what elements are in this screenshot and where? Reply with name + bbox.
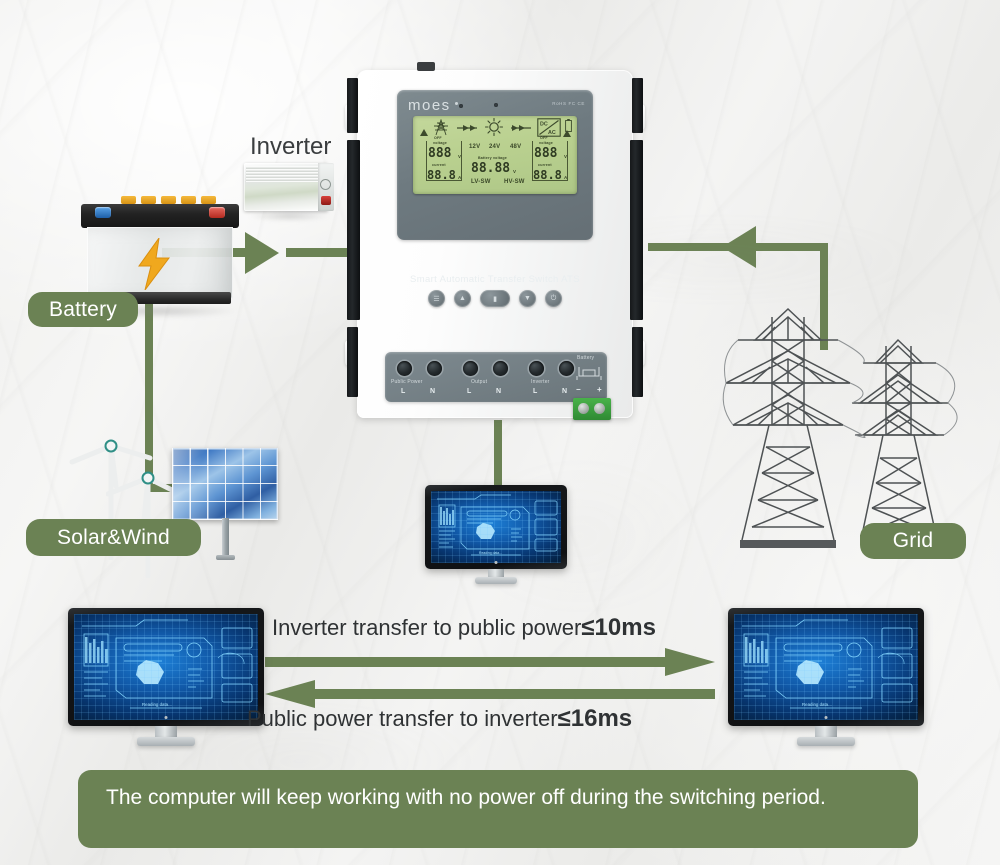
ats-device: moes RoHS FC CE xyxy=(345,62,645,432)
up-button[interactable]: ▲ xyxy=(454,290,471,307)
transfer-reverse-text: Public power transfer to inverter≤16ms xyxy=(247,705,632,733)
heatsink-fin xyxy=(347,140,360,320)
heatsink-fin xyxy=(347,78,358,133)
terminal-jack-output-n[interactable] xyxy=(493,361,508,376)
lcd-dc-ac-icon: DC AC xyxy=(537,118,561,137)
lcd-left-voltage-unit: V xyxy=(458,154,461,159)
status-led xyxy=(494,103,498,107)
label-grid: Grid xyxy=(860,523,966,559)
diagram-background: Battery Inverter xyxy=(0,0,1000,865)
lcd-pylon-icon xyxy=(433,119,449,136)
terminal-jack-output-l[interactable] xyxy=(463,361,478,376)
terminal-jack-inverter-l[interactable] xyxy=(529,361,544,376)
power-button[interactable]: ⏻ xyxy=(545,290,562,307)
caption-text: The computer will keep working with no p… xyxy=(106,786,826,809)
pin-label-l: L xyxy=(467,388,471,395)
arrow-grid-to-ats xyxy=(710,226,756,268)
transfer-forward-text: Inverter transfer to public power≤10ms xyxy=(272,614,656,642)
svg-text:AC: AC xyxy=(548,130,556,136)
lcd-warning-right-icon xyxy=(563,130,571,137)
enter-button[interactable]: ▮ xyxy=(480,290,510,307)
lcd-warning-left-icon xyxy=(420,129,428,136)
lcd-left-current-label: current xyxy=(432,163,446,167)
lcd-left-voltage-value: 888 xyxy=(428,146,451,161)
pin-label-l: L xyxy=(401,388,405,395)
lcd-left-off: OFF xyxy=(434,136,442,140)
label-solar-wind: Solar&Wind xyxy=(26,519,201,556)
terminal-battery-label: Battery xyxy=(577,355,594,361)
svg-text:DC: DC xyxy=(540,122,548,128)
lcd-left-current-value: 88.8 xyxy=(427,168,456,182)
transfer-forward-time: ≤10ms xyxy=(581,614,656,641)
lcd-bulb-icon xyxy=(485,118,503,136)
lcd-right-voltage-unit: V xyxy=(564,154,567,159)
monitor-screen: Reading data... xyxy=(431,491,561,563)
lcd-flow-right-icon xyxy=(509,124,533,132)
pin-label-l: L xyxy=(533,388,537,395)
caption-banner: The computer will keep working with no p… xyxy=(78,770,918,848)
lcd-right-voltage-label: voltage xyxy=(539,141,553,145)
lcd-sysvolt-48v: 48V xyxy=(510,144,521,150)
lcd-lv-sw: LV-SW xyxy=(471,179,491,185)
battery-positive-terminal xyxy=(95,207,111,218)
lcd-display: DC AC OFF OFF voltage xyxy=(413,116,577,194)
lcd-left-current-unit: A xyxy=(458,175,461,180)
inverter-socket xyxy=(321,196,331,205)
terminal-panel: Public Power Output Inverter L N L N L N… xyxy=(385,352,607,402)
terminal-group-label-public-power: Public Power xyxy=(391,379,423,385)
control-button-row: ☰ ▲ ▮ ▼ ⏻ xyxy=(397,290,593,307)
lcd-sysvolt-12v: 12V xyxy=(469,144,480,150)
hud-monitor-left: Reading data... xyxy=(68,608,264,748)
pin-label-n: N xyxy=(562,388,567,395)
pin-label-n: N xyxy=(496,388,501,395)
lcd-flow-left-icon xyxy=(455,124,479,132)
lcd-right-current-value: 88.8 xyxy=(533,168,562,182)
brand-logo: moes xyxy=(408,97,451,114)
arrow-forward-transfer xyxy=(265,648,715,678)
label-inverter: Inverter xyxy=(250,133,331,161)
lcd-right-off: OFF xyxy=(540,136,548,140)
lcd-right-current-unit: A xyxy=(564,175,567,180)
lcd-hv-sw: HV-SW xyxy=(504,179,525,185)
terminal-group-label-output: Output xyxy=(471,379,487,385)
lcd-battery-label: Battery voltage xyxy=(478,156,507,160)
terminal-jack-public-l[interactable] xyxy=(397,361,412,376)
hud-monitor-center: Reading data... xyxy=(425,485,567,585)
battery-pin-negative: − xyxy=(576,385,581,394)
monitor-screen: Reading data... xyxy=(734,614,918,720)
down-button[interactable]: ▼ xyxy=(519,290,536,307)
arrow-battery-to-inverter xyxy=(245,232,291,274)
lcd-battery-value: 88.88 xyxy=(471,161,510,176)
monitor-screen: Reading data... xyxy=(74,614,258,720)
inverter-illustration xyxy=(244,163,334,219)
transfer-reverse-time: ≤16ms xyxy=(558,705,633,732)
hud-monitor-right: Reading data... xyxy=(728,608,924,748)
heatsink-fin xyxy=(347,327,358,397)
lcd-right-current-label: current xyxy=(538,163,552,167)
device-model-text: Smart Automatic Transfer Switch ATS xyxy=(397,274,593,285)
lcd-sysvolt-24v: 24V xyxy=(489,144,500,150)
lightning-bolt-icon xyxy=(133,238,175,290)
heatsink-fin xyxy=(632,327,643,397)
lcd-battery-unit: V xyxy=(513,169,516,174)
terminal-group-label-inverter: Inverter xyxy=(531,379,550,385)
ats-top-bracket xyxy=(417,62,435,71)
menu-button[interactable]: ☰ xyxy=(428,290,445,307)
label-battery: Battery xyxy=(28,292,138,327)
lcd-right-voltage-value: 888 xyxy=(534,146,557,161)
svg-text:Reading data...: Reading data... xyxy=(479,551,502,555)
fan-icon xyxy=(320,179,331,190)
terminal-jack-public-n[interactable] xyxy=(427,361,442,376)
line-grid-horizontal xyxy=(648,243,828,251)
svg-text:Reading data...: Reading data... xyxy=(142,702,172,707)
heatsink-fin xyxy=(632,78,643,133)
heatsink-fin xyxy=(630,140,643,320)
battery-terminal-icon xyxy=(575,363,603,381)
terminal-jack-inverter-n[interactable] xyxy=(559,361,574,376)
pin-label-n: N xyxy=(430,388,435,395)
lcd-left-voltage-label: voltage xyxy=(433,141,447,145)
ats-front-panel: moes RoHS FC CE xyxy=(397,90,593,240)
status-led xyxy=(459,104,463,108)
certification-marks: RoHS FC CE xyxy=(552,101,585,106)
svg-text:Reading data...: Reading data... xyxy=(802,702,832,707)
battery-terminal-block[interactable] xyxy=(573,398,611,420)
battery-negative-terminal xyxy=(209,207,225,218)
battery-pin-positive: + xyxy=(597,385,602,394)
